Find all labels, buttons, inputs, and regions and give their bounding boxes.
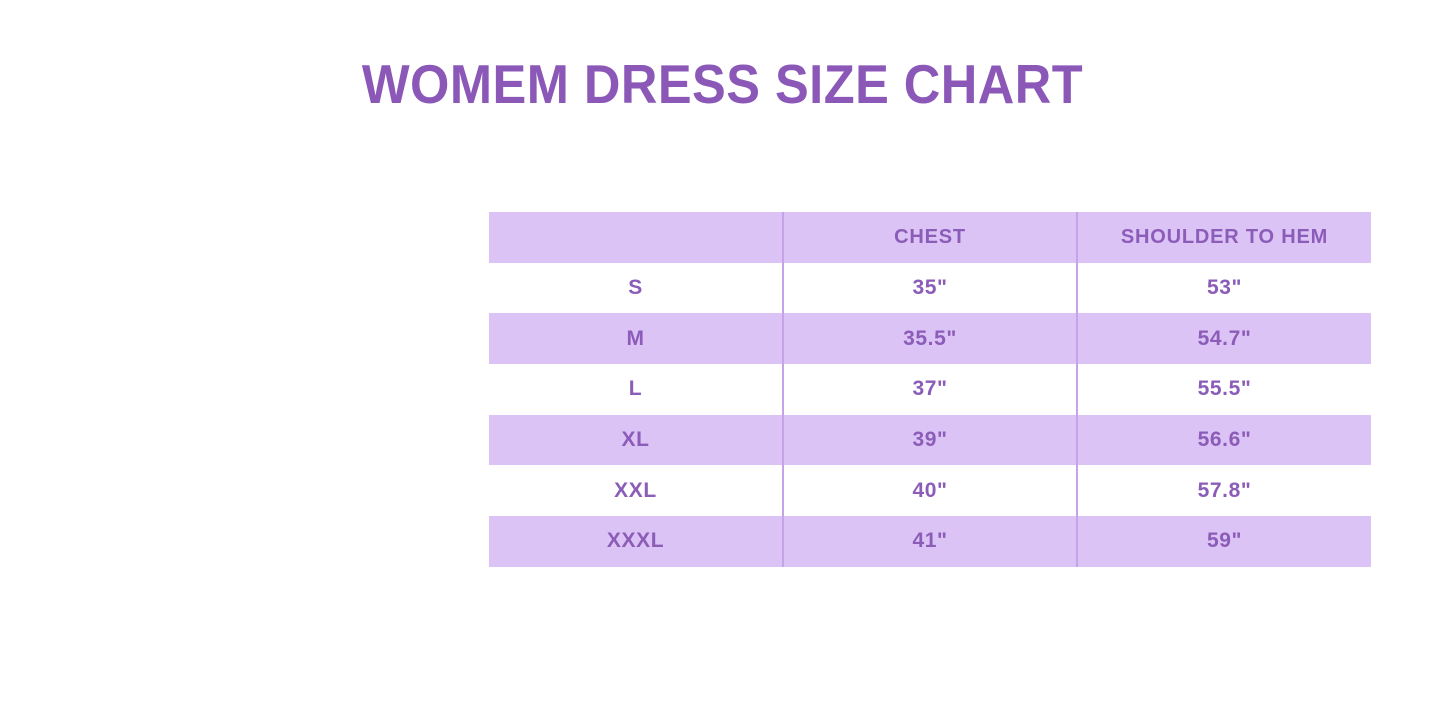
- cell-chest: 37": [783, 364, 1077, 415]
- cell-size: S: [489, 263, 783, 314]
- page-title: WOMEM DRESS SIZE CHART: [58, 57, 1387, 112]
- table-row: XXL 40" 57.8": [489, 465, 1371, 516]
- table-row: M 35.5" 54.7": [489, 313, 1371, 364]
- table-header-row: CHEST SHOULDER TO HEM: [489, 212, 1371, 263]
- cell-shoulder-to-hem: 55.5": [1077, 364, 1371, 415]
- cell-shoulder-to-hem: 54.7": [1077, 313, 1371, 364]
- cell-size: XXL: [489, 465, 783, 516]
- column-header-shoulder-to-hem: SHOULDER TO HEM: [1077, 212, 1371, 263]
- cell-size: L: [489, 364, 783, 415]
- column-header-chest: CHEST: [783, 212, 1077, 263]
- table-row: L 37" 55.5": [489, 364, 1371, 415]
- cell-chest: 41": [783, 516, 1077, 567]
- cell-chest: 40": [783, 465, 1077, 516]
- table-row: S 35" 53": [489, 263, 1371, 314]
- cell-shoulder-to-hem: 59": [1077, 516, 1371, 567]
- cell-shoulder-to-hem: 57.8": [1077, 465, 1371, 516]
- cell-shoulder-to-hem: 56.6": [1077, 415, 1371, 466]
- cell-shoulder-to-hem: 53": [1077, 263, 1371, 314]
- table-row: XL 39" 56.6": [489, 415, 1371, 466]
- cell-size: XL: [489, 415, 783, 466]
- cell-chest: 35": [783, 263, 1077, 314]
- cell-size: XXXL: [489, 516, 783, 567]
- cell-size: M: [489, 313, 783, 364]
- cell-chest: 35.5": [783, 313, 1077, 364]
- column-header-size: [489, 212, 783, 263]
- size-chart-page: WOMEM DRESS SIZE CHART CHEST SHOULDER TO…: [0, 0, 1445, 723]
- cell-chest: 39": [783, 415, 1077, 466]
- table-header: CHEST SHOULDER TO HEM: [489, 212, 1371, 263]
- table-row: XXXL 41" 59": [489, 516, 1371, 567]
- size-chart-table: CHEST SHOULDER TO HEM S 35" 53" M 35.5" …: [489, 212, 1371, 567]
- table-body: S 35" 53" M 35.5" 54.7" L 37" 55.5" XL 3…: [489, 263, 1371, 567]
